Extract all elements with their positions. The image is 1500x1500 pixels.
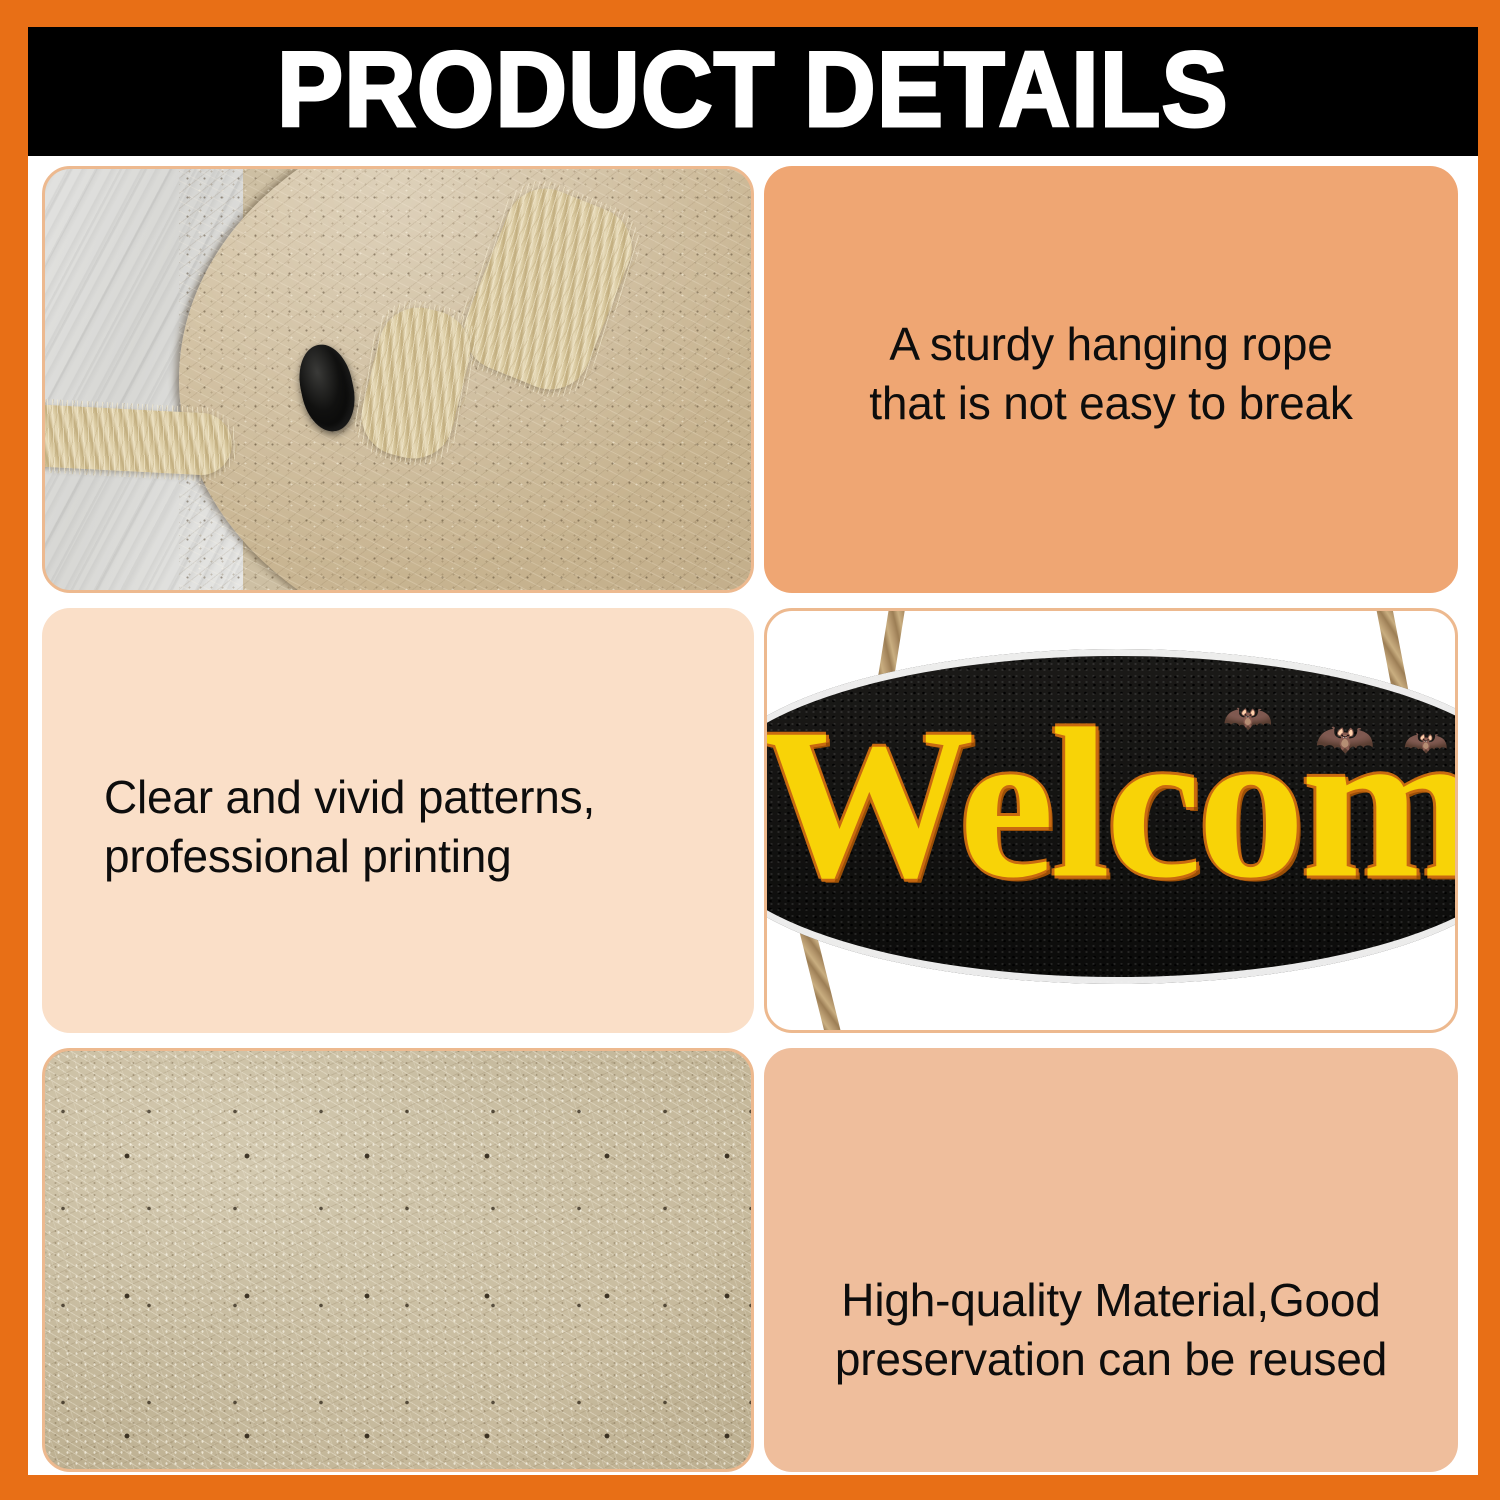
header-banner: PRODUCT DETAILS (28, 27, 1478, 156)
feature-caption-2-line-1: Clear and vivid patterns, (104, 771, 595, 823)
feature-caption-2: Clear and vivid patterns, professional p… (42, 768, 595, 886)
frame-border-right (1478, 0, 1500, 1500)
feature-text-panel-3: High-quality Material,Good preservation … (764, 1048, 1458, 1472)
panel-grid: A sturdy hanging rope that is not easy t… (42, 166, 1458, 1472)
welcome-sign-text: Welcom (764, 695, 1458, 910)
rope-outer-strand (42, 403, 233, 476)
page-title: PRODUCT DETAILS (277, 36, 1229, 143)
feature-text-panel-1: A sturdy hanging rope that is not easy t… (764, 166, 1458, 593)
feature-caption-3-line-1: High-quality Material,Good (841, 1274, 1380, 1326)
product-details-infographic: PRODUCT DETAILS A sturdy hanging rope th… (0, 0, 1500, 1500)
rope-grommet-photo (42, 166, 754, 593)
feature-caption-1: A sturdy hanging rope that is not easy t… (869, 315, 1352, 433)
feature-text-panel-2: Clear and vivid patterns, professional p… (42, 608, 754, 1033)
frame-border-left (0, 0, 28, 1500)
feature-caption-2-line-2: professional printing (104, 830, 512, 882)
mdf-material-photo (42, 1048, 754, 1472)
feature-caption-3: High-quality Material,Good preservation … (835, 1271, 1387, 1389)
feature-caption-3-line-2: preservation can be reused (835, 1333, 1387, 1385)
feature-caption-1-line-2: that is not easy to break (869, 377, 1352, 429)
welcome-sign-board: 🦇 🦇 🦇 Welcom (764, 649, 1458, 984)
frame-border-bottom (0, 1475, 1500, 1500)
feature-caption-1-line-1: A sturdy hanging rope (889, 318, 1332, 370)
mdf-dark-specks-secondary (45, 1051, 751, 1469)
rope-fuzz (42, 397, 240, 483)
welcome-sign-photo: 🦇 🦇 🦇 Welcom (764, 608, 1458, 1033)
frame-border-top (0, 0, 1500, 28)
